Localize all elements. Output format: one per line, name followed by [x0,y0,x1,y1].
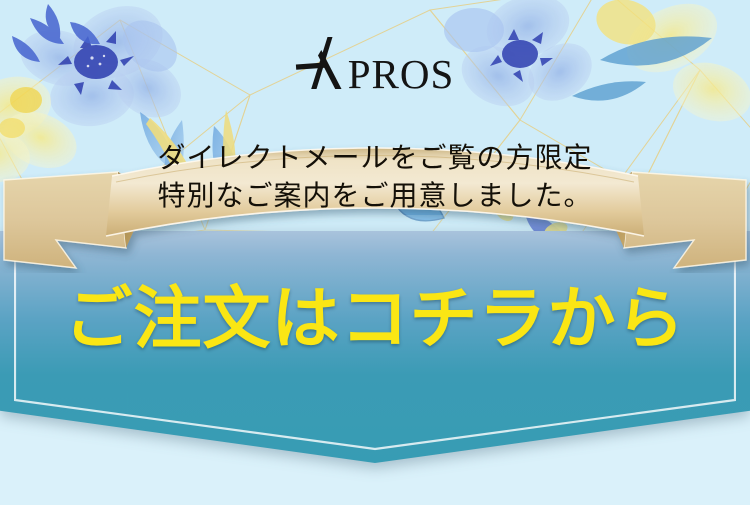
promo-banner: PROS ご注文はコチラから [0,0,750,505]
gold-ribbon [0,128,750,273]
cta-headline: ご注文はコチラから [0,286,750,354]
